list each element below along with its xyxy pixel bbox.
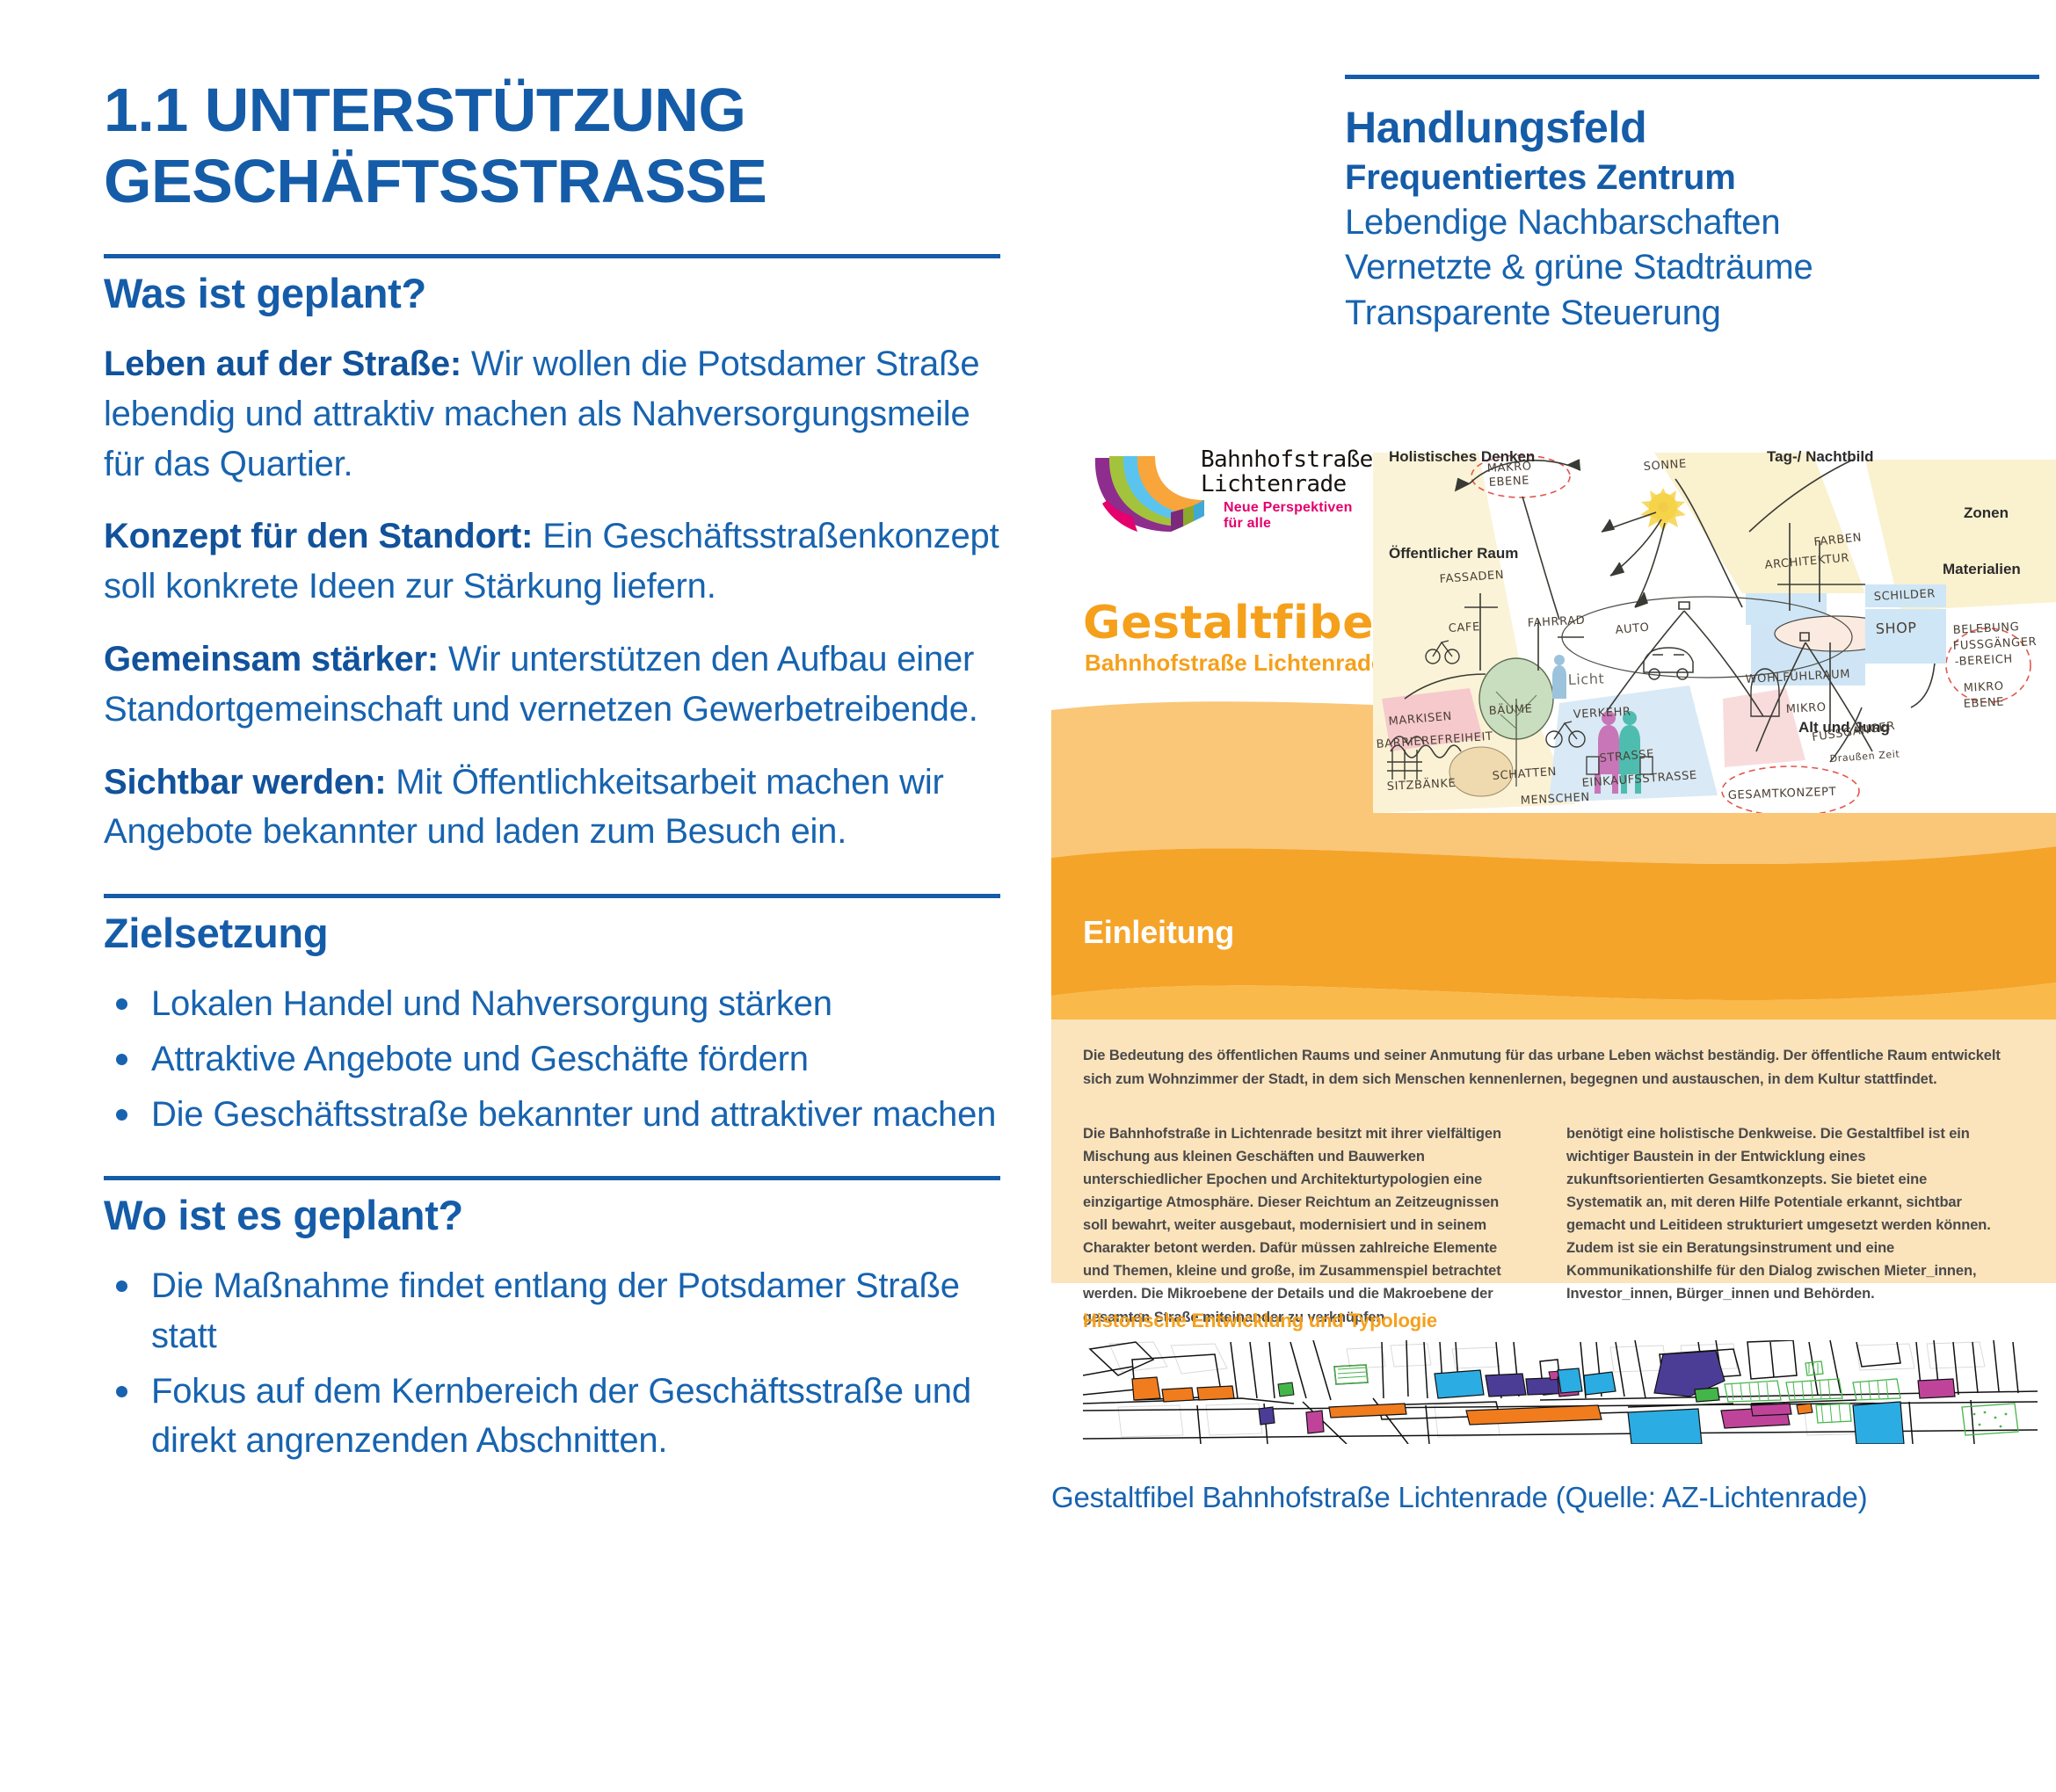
paragraph-gemeinsam-staerker: Gemeinsam stärker: Wir unterstützen den … — [104, 635, 1000, 735]
svg-text:FUSSGÄNGER: FUSSGÄNGER — [1952, 635, 2037, 653]
handlungsfeld-block: Handlungsfeld Frequentiertes Zentrum Leb… — [1345, 75, 2039, 336]
svg-text:SHOP: SHOP — [1875, 619, 1916, 637]
svg-text:GESAMTKONZEPT: GESAMTKONZEPT — [1728, 786, 1837, 802]
list-item: Attraktive Angebote und Geschäfte förder… — [104, 1034, 1000, 1085]
svg-text:MENSCHEN: MENSCHEN — [1520, 791, 1590, 808]
paragraph-leben-auf-der-strasse: Leben auf der Straße: Wir wollen die Pot… — [104, 339, 1000, 489]
typology-map — [1083, 1340, 2038, 1444]
list-item: Lokalen Handel und Nahversorgung stärken — [104, 979, 1000, 1029]
section-heading-zielsetzung: Zielsetzung — [104, 911, 1000, 956]
divider-line — [104, 1176, 1000, 1180]
svg-text:MIKRO: MIKRO — [1963, 680, 2004, 695]
list-item: Fokus auf dem Kernbereich der Geschäftss… — [104, 1367, 1000, 1467]
svg-text:BÄUME: BÄUME — [1488, 701, 1533, 718]
logo-wordmark: Bahnhofstraße Lichtenrade — [1201, 447, 1373, 497]
historische-entwicklung-heading: Historische Entwicklung und Typologie — [1083, 1310, 1437, 1332]
handlungsfeld-item-2: Vernetzte & grüne Stadträume — [1345, 245, 2039, 290]
list-item: Die Geschäftsstraße bekannter und attrak… — [104, 1090, 1000, 1140]
logo-claim: Neue Perspektiven für alle — [1224, 500, 1368, 532]
handlungsfeld-title: Handlungsfeld — [1345, 104, 2039, 152]
intro-column-left: Die Bahnhofstraße in Lichtenrade besitzt… — [1083, 1122, 1522, 1329]
map-drawing — [1083, 1340, 2038, 1444]
logo-line-2: Lichtenrade — [1201, 472, 1373, 497]
zielsetzung-list: Lokalen Handel und Nahversorgung stärken… — [104, 979, 1000, 1139]
section-divider — [104, 1176, 1000, 1180]
page-title: 1.1 UNTERSTÜTZUNG GESCHÄFTSSTRASSE — [104, 75, 1000, 217]
section-heading-geplant: Was ist geplant? — [104, 271, 1000, 316]
section-heading-wo: Wo ist es geplant? — [104, 1193, 1000, 1238]
svg-text:MIKRO: MIKRO — [1785, 701, 1827, 716]
section-divider — [104, 894, 1000, 898]
sketch-drawing: Holistisches Denken Tag-/ Nachtbild Zone… — [1373, 435, 2056, 813]
paragraph-sichtbar-werden: Sichtbar werden: Mit Öffentlichkeitsarbe… — [104, 758, 1000, 858]
einleitung-heading: Einleitung — [1083, 914, 1234, 951]
intro-two-columns: Die Bahnhofstraße in Lichtenrade besitzt… — [1083, 1122, 2037, 1329]
paragraph-lead: Konzept für den Standort: — [104, 517, 533, 555]
handlungsfeld-item-3: Transparente Steuerung — [1345, 291, 2039, 336]
paragraph-lead: Sichtbar werden: — [104, 763, 386, 802]
left-column: 1.1 UNTERSTÜTZUNG GESCHÄFTSSTRASSE Was i… — [104, 75, 1000, 1471]
handlungsfeld-item-1: Lebendige Nachbarschaften — [1345, 200, 2039, 245]
svg-text:AUTO: AUTO — [1615, 621, 1650, 637]
svg-text:Öffentlicher Raum: Öffentlicher Raum — [1389, 545, 1518, 562]
paragraph-lead: Gemeinsam stärker: — [104, 640, 439, 678]
svg-text:CAFE: CAFE — [1448, 620, 1480, 635]
paragraph-konzept-fuer-den-standort: Konzept für den Standort: Ein Geschäftss… — [104, 511, 1000, 612]
svg-text:-BEREICH: -BEREICH — [1954, 653, 2013, 669]
list-item: Die Maßnahme findet entlang der Potsdame… — [104, 1261, 1000, 1361]
brochure-preview-image: Bahnhofstraße Lichtenrade Neue Perspekti… — [1051, 435, 2056, 1472]
svg-text:Draußen Zeit: Draußen Zeit — [1829, 748, 1900, 765]
divider-line — [104, 894, 1000, 898]
handlungsfeld-divider — [1345, 75, 2039, 79]
handlungsfeld-subtitle: Frequentiertes Zentrum — [1345, 156, 2039, 200]
svg-text:BELEBUNG: BELEBUNG — [1952, 620, 2019, 637]
svg-text:MAKRO: MAKRO — [1486, 460, 1532, 475]
intro-column-right: benötigt eine holistische Denkweise. Die… — [1566, 1122, 2006, 1329]
section-zielsetzung: Zielsetzung Lokalen Handel und Nahversor… — [104, 894, 1000, 1139]
image-caption: Gestaltfibel Bahnhofstraße Lichtenrade (… — [1051, 1481, 2053, 1514]
divider-line — [104, 254, 1000, 258]
svg-text:Tag-/ Nachtbild: Tag-/ Nachtbild — [1767, 448, 1874, 465]
svg-text:Licht: Licht — [1567, 671, 1604, 688]
poster-page: 1.1 UNTERSTÜTZUNG GESCHÄFTSSTRASSE Was i… — [0, 0, 2056, 1792]
logo-line-1: Bahnhofstraße — [1201, 447, 1373, 472]
svg-text:FAHRRAD: FAHRRAD — [1527, 614, 1585, 630]
svg-text:EBENE: EBENE — [1488, 475, 1529, 490]
svg-text:Materialien: Materialien — [1943, 561, 2021, 577]
gestaltfibel-subtitle: Bahnhofstraße Lichtenrade — [1085, 649, 1384, 677]
svg-text:Zonen: Zonen — [1964, 504, 2009, 521]
concept-sketch: Holistisches Denken Tag-/ Nachtbild Zone… — [1373, 435, 2056, 813]
intro-lead-text: Die Bedeutung des öffentlichen Raums und… — [1083, 1044, 2032, 1091]
section-divider — [104, 254, 1000, 258]
section-wo-ist-es-geplant: Wo ist es geplant? Die Maßnahme findet e… — [104, 1176, 1000, 1466]
paragraph-lead: Leben auf der Straße: — [104, 345, 461, 383]
section-was-ist-geplant: Was ist geplant? Leben auf der Straße: W… — [104, 254, 1000, 857]
svg-text:EBENE: EBENE — [1963, 696, 2004, 711]
bahnhofstrasse-logo: Bahnhofstraße Lichtenrade Neue Perspekti… — [1086, 444, 1368, 545]
wo-list: Die Maßnahme findet entlang der Potsdame… — [104, 1261, 1000, 1466]
gestaltfibel-title: Gestaltfibel — [1083, 597, 1391, 649]
